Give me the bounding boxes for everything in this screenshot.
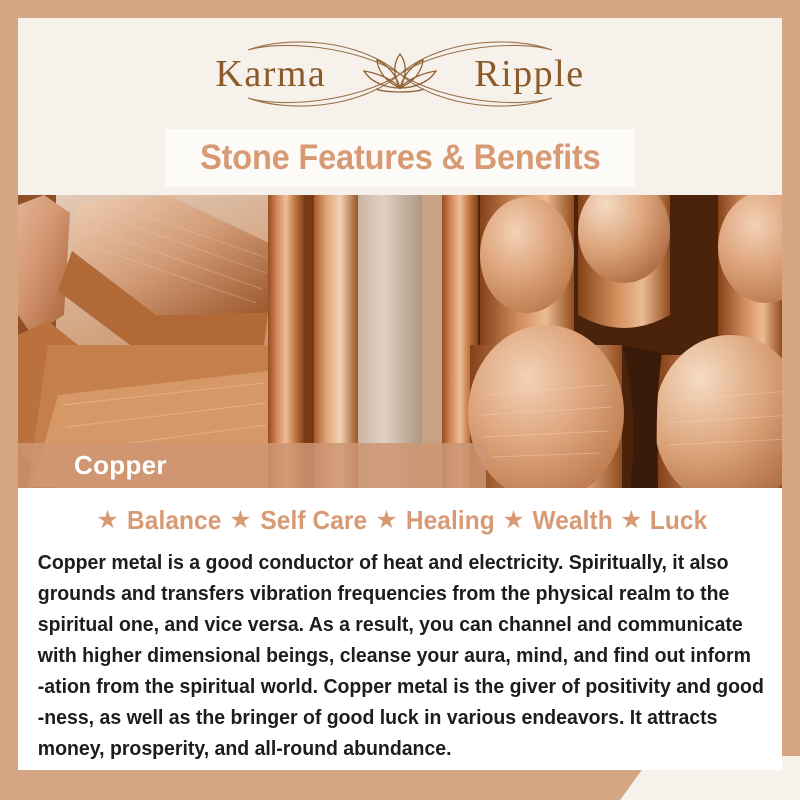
feature-item-balance: ★ Balance bbox=[91, 505, 224, 536]
brand-name-right: Ripple bbox=[474, 52, 584, 96]
description-line: grounds and transfers vibration frequenc… bbox=[38, 578, 730, 609]
feature-item-wealth: ★ Wealth bbox=[497, 505, 615, 536]
feature-item-luck: ★ Luck bbox=[615, 505, 709, 536]
photo-caption-band: Copper bbox=[18, 443, 486, 488]
brand-header: Karma Ripple bbox=[18, 18, 782, 129]
description-line: money, prosperity, and all-round abundan… bbox=[38, 733, 730, 764]
photo-caption-label: Copper bbox=[74, 450, 167, 481]
description-panel: ★ Balance ★ Self Care ★ Healing ★ Wealth… bbox=[18, 488, 782, 770]
page-title: Stone Features & Benefits bbox=[200, 138, 601, 178]
description-line: spiritual one, and vice versa. As a resu… bbox=[38, 609, 730, 640]
star-icon: ★ bbox=[370, 508, 402, 533]
description-line: -ation from the spiritual world. Copper … bbox=[38, 671, 730, 702]
description-line: -ness, as well as the bringer of good lu… bbox=[38, 702, 730, 733]
star-icon: ★ bbox=[91, 508, 123, 533]
description-text: Copper metal is a good conductor of heat… bbox=[34, 547, 729, 764]
star-icon: ★ bbox=[224, 508, 256, 533]
feature-label: Balance bbox=[127, 505, 221, 536]
title-banner-area: Stone Features & Benefits bbox=[18, 129, 782, 195]
title-banner: Stone Features & Benefits bbox=[165, 129, 635, 187]
brand-logo: Karma Ripple bbox=[190, 32, 610, 116]
description-line: Copper metal is a good conductor of heat… bbox=[38, 547, 730, 578]
feature-label: Wealth bbox=[532, 505, 612, 536]
content-card: Karma Ripple Stone Features & Benefits bbox=[18, 18, 782, 770]
feature-label: Self Care bbox=[260, 505, 367, 536]
feature-item-healing: ★ Healing bbox=[370, 505, 497, 536]
feature-item-self-care: ★ Self Care bbox=[224, 505, 370, 536]
description-line: with higher dimensional beings, cleanse … bbox=[38, 640, 730, 671]
feature-list: ★ Balance ★ Self Care ★ Healing ★ Wealth… bbox=[34, 505, 766, 536]
feature-label: Luck bbox=[649, 505, 706, 536]
star-icon: ★ bbox=[497, 508, 529, 533]
brand-name-left: Karma bbox=[215, 52, 326, 96]
star-icon: ★ bbox=[615, 508, 647, 533]
copper-photo: Copper bbox=[18, 195, 782, 488]
feature-label: Healing bbox=[406, 505, 495, 536]
